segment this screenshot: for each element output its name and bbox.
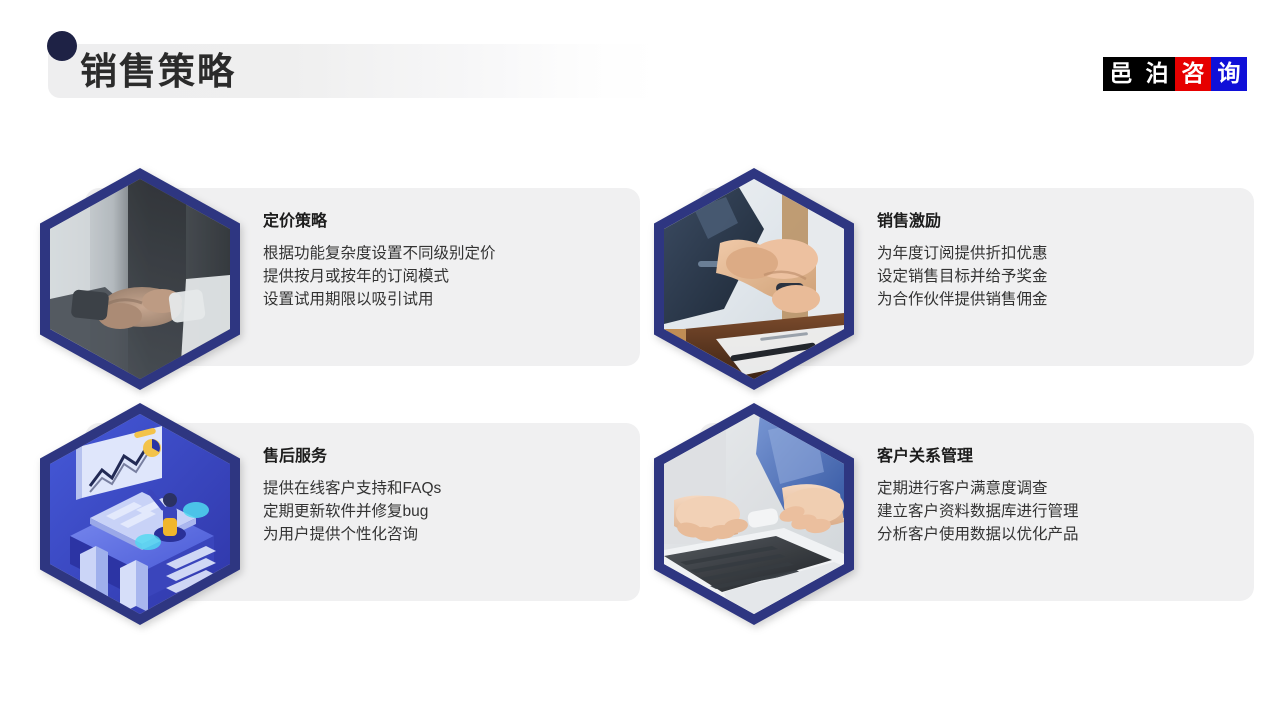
card-hexagon-badge [654,168,854,390]
card-lines: 为年度订阅提供折扣优惠 设定销售目标并给予奖金 为合作伙伴提供销售佣金 [877,242,1237,311]
card-line: 建立客户资料数据库进行管理 [877,500,1237,523]
card-line: 分析客户使用数据以优化产品 [877,523,1237,546]
logo-char-3: 咨 [1175,57,1211,91]
strategy-card[interactable]: 定价策略 根据功能复杂度设置不同级别定价 提供按月或按年的订阅模式 设置试用期限… [8,168,640,368]
card-title: 销售激励 [877,211,1237,233]
brand-logo: 邑 泊 咨 询 [1103,57,1247,91]
card-text-block: 售后服务 提供在线客户支持和FAQs 定期更新软件并修复bug 为用户提供个性化… [263,446,623,546]
card-line: 设定销售目标并给予奖金 [877,265,1237,288]
logo-char-2: 泊 [1139,57,1175,91]
card-line: 定期更新软件并修复bug [263,500,623,523]
card-title: 客户关系管理 [877,446,1237,468]
card-hexagon-badge [654,403,854,625]
card-line: 为年度订阅提供折扣优惠 [877,242,1237,265]
slide-header: 销售策略 邑 泊 咨 询 [0,0,1280,130]
card-lines: 根据功能复杂度设置不同级别定价 提供按月或按年的订阅模式 设置试用期限以吸引试用 [263,242,623,311]
page-title: 销售策略 [80,48,236,96]
card-text-block: 销售激励 为年度订阅提供折扣优惠 设定销售目标并给予奖金 为合作伙伴提供销售佣金 [877,211,1237,311]
header-accent-dot-icon [47,31,77,61]
card-lines: 提供在线客户支持和FAQs 定期更新软件并修复bug 为用户提供个性化咨询 [263,477,623,546]
logo-char-4: 询 [1211,57,1247,91]
strategy-card[interactable]: 销售激励 为年度订阅提供折扣优惠 设定销售目标并给予奖金 为合作伙伴提供销售佣金 [622,168,1254,368]
card-title: 售后服务 [263,446,623,468]
strategy-card-grid: 定价策略 根据功能复杂度设置不同级别定价 提供按月或按年的订阅模式 设置试用期限… [0,150,1280,620]
card-line: 为合作伙伴提供销售佣金 [877,288,1237,311]
card-line: 根据功能复杂度设置不同级别定价 [263,242,623,265]
strategy-card[interactable]: 客户关系管理 定期进行客户满意度调查 建立客户资料数据库进行管理 分析客户使用数… [622,403,1254,603]
card-line: 设置试用期限以吸引试用 [263,288,623,311]
card-hexagon-badge [40,168,240,390]
card-title: 定价策略 [263,211,623,233]
card-line: 提供按月或按年的订阅模式 [263,265,623,288]
strategy-card[interactable]: 售后服务 提供在线客户支持和FAQs 定期更新软件并修复bug 为用户提供个性化… [8,403,640,603]
card-lines: 定期进行客户满意度调查 建立客户资料数据库进行管理 分析客户使用数据以优化产品 [877,477,1237,546]
card-line: 为用户提供个性化咨询 [263,523,623,546]
card-text-block: 客户关系管理 定期进行客户满意度调查 建立客户资料数据库进行管理 分析客户使用数… [877,446,1237,546]
card-hexagon-badge [40,403,240,625]
card-line: 定期进行客户满意度调查 [877,477,1237,500]
logo-char-1: 邑 [1103,57,1139,91]
card-line: 提供在线客户支持和FAQs [263,477,623,500]
card-text-block: 定价策略 根据功能复杂度设置不同级别定价 提供按月或按年的订阅模式 设置试用期限… [263,211,623,311]
